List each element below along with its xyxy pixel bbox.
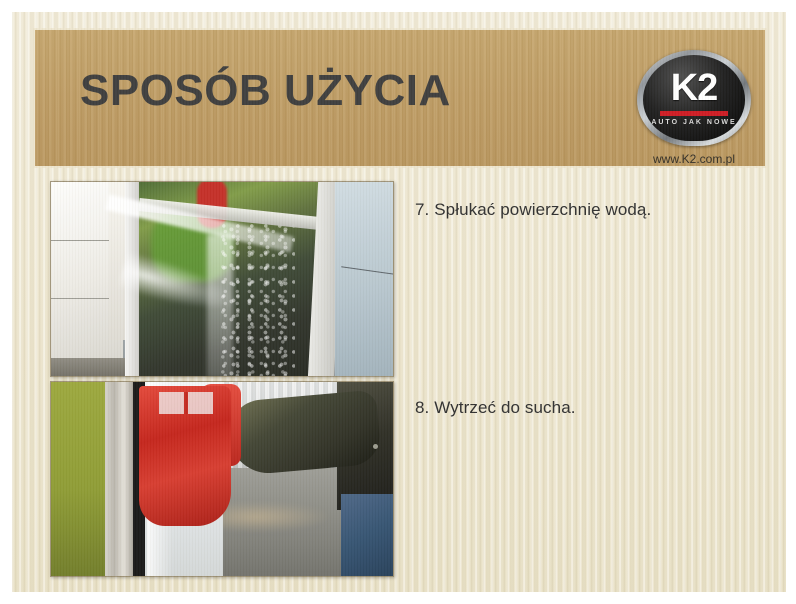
photo8-aluminium-frame	[105, 382, 133, 577]
slide-canvas: SPOSÓB UŻYCIA K2 AUTO JAK NOWE www.K2.co…	[12, 12, 786, 592]
logo-tagline: AUTO JAK NOWE	[643, 119, 745, 126]
photo8-blue-jeans	[341, 494, 394, 577]
k2-logo: K2 AUTO JAK NOWE www.K2.com.pl	[627, 46, 761, 166]
photo8-jacket-button	[373, 444, 378, 449]
photo8-cloth-highlight-split	[184, 392, 188, 414]
photo8-green-wall	[51, 382, 105, 577]
step-8-text: 8. Wytrzeć do sucha.	[415, 398, 576, 418]
logo-brand-text: K2	[643, 69, 745, 107]
photo7-right-panel	[335, 182, 394, 377]
step-7-text: 7. Spłukać powierzchnię wodą.	[415, 200, 651, 220]
page-title: SPOSÓB UŻYCIA	[80, 66, 451, 116]
logo-oval-icon: K2 AUTO JAK NOWE	[637, 50, 751, 146]
photo-step-8-drying	[50, 381, 394, 577]
photo-step-7-rinsing	[50, 181, 394, 377]
title-band: SPOSÓB UŻYCIA K2 AUTO JAK NOWE www.K2.co…	[35, 30, 765, 166]
logo-red-bar-icon	[660, 111, 728, 116]
logo-inner-face: K2 AUTO JAK NOWE	[643, 55, 745, 141]
logo-website-url: www.K2.com.pl	[627, 152, 761, 166]
photo8-arm-sleeve	[226, 390, 382, 477]
slide-frame: SPOSÓB UŻYCIA K2 AUTO JAK NOWE www.K2.co…	[0, 0, 796, 604]
